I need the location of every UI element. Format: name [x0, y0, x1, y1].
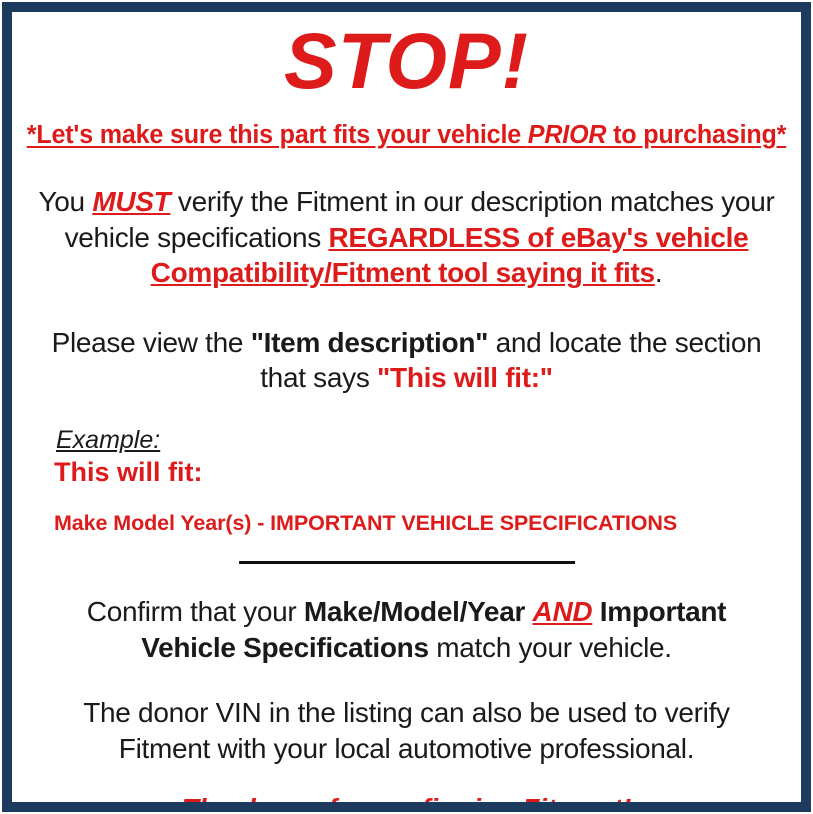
item-description-emphasis: "Item description"	[251, 327, 488, 358]
notice-border: STOP! *Let's make sure this part fits yo…	[2, 2, 811, 812]
must-emphasis: MUST	[92, 186, 170, 217]
subhead-lead: *Let's make sure this part fits your veh…	[27, 121, 528, 149]
example-label-row: Example:	[56, 426, 793, 456]
confirm-space-1	[525, 596, 532, 627]
subhead-tail: to purchasing*	[606, 121, 786, 149]
confirm-space-2	[592, 596, 599, 627]
this-will-fit-emphasis: "This will fit:"	[377, 362, 553, 393]
thank-you-line: Thank you for confirming Fitment!	[20, 792, 793, 802]
subhead-line: *Let's make sure this part fits your veh…	[26, 121, 787, 150]
must-part-3: .	[655, 257, 662, 288]
confirm-paragraph: Confirm that your Make/Model/Year AND Im…	[20, 594, 793, 665]
view-description-paragraph: Please view the "Item description" and l…	[20, 325, 793, 396]
view-part-1: Please view the	[52, 327, 251, 358]
and-emphasis: AND	[533, 596, 593, 627]
must-part-1: You	[38, 186, 92, 217]
stop-headline: STOP!	[20, 12, 793, 103]
notice-body: STOP! *Let's make sure this part fits yo…	[12, 12, 801, 802]
confirm-part-2: match your vehicle.	[429, 632, 672, 663]
section-divider	[239, 561, 575, 564]
example-label: Example:	[56, 426, 160, 456]
confirm-part-1: Confirm that your	[87, 596, 304, 627]
fitment-notice: STOP! *Let's make sure this part fits yo…	[0, 0, 813, 814]
must-verify-paragraph: You MUST verify the Fitment in our descr…	[20, 184, 793, 291]
example-block: Example: This will fit: Make Model Year(…	[20, 426, 793, 537]
example-fit-heading: This will fit:	[54, 457, 793, 489]
vin-paragraph: The donor VIN in the listing can also be…	[20, 695, 793, 766]
example-spec-line: Make Model Year(s) - IMPORTANT VEHICLE S…	[54, 511, 793, 537]
divider-wrap	[20, 561, 793, 564]
subhead-prior-emphasis: PRIOR	[528, 121, 607, 149]
make-model-year-emphasis: Make/Model/Year	[304, 596, 525, 627]
